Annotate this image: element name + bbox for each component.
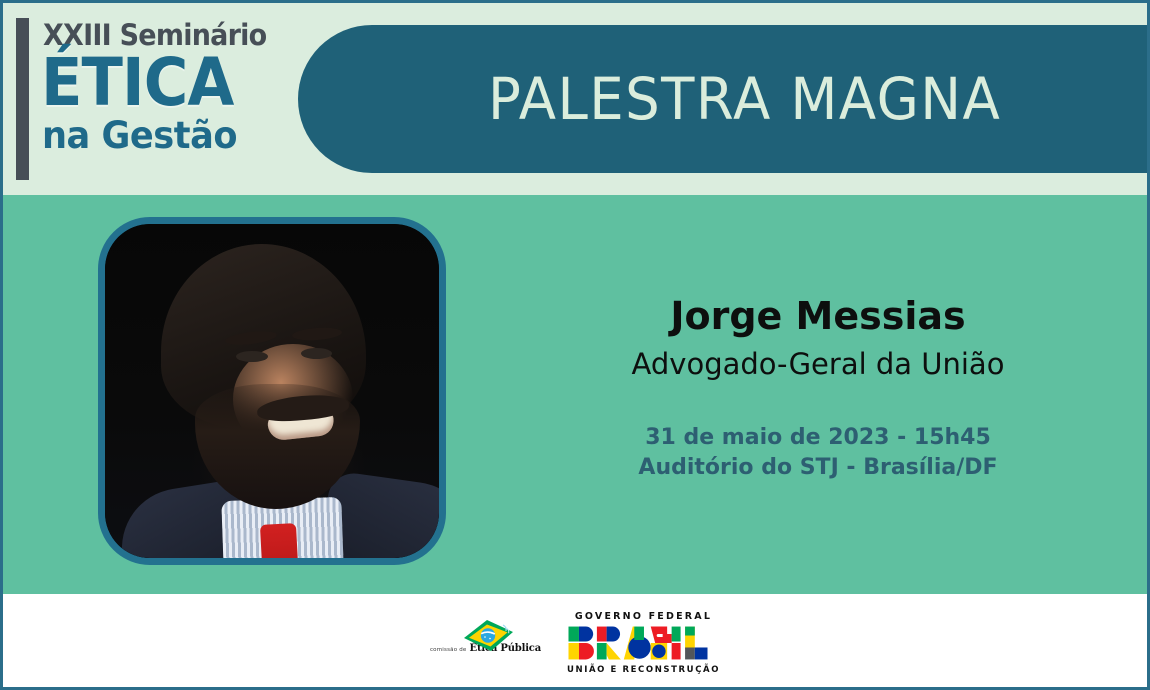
governo-federal-logo: GOVERNO FEDERAL [567, 611, 720, 675]
event-poster: XXIII Seminário ÉTICA na Gestão PALESTRA… [0, 0, 1150, 690]
speaker-role: Advogado-Geral da União [533, 347, 1103, 382]
logo-accent-bar [16, 18, 29, 180]
seminar-logo: XXIII Seminário ÉTICA na Gestão [41, 15, 281, 185]
poster-main: Jorge Messias Advogado-Geral da União 31… [3, 195, 1147, 597]
palestra-magna-banner: PALESTRA MAGNA [298, 25, 1150, 173]
brazil-flag-map-icon [460, 619, 516, 653]
brasil-wordmark-icon [567, 625, 709, 661]
gov-top-label: GOVERNO FEDERAL [567, 611, 720, 622]
gov-bottom-label: UNIÃO E RECONSTRUÇÃO [567, 665, 720, 675]
portrait-eye-right [301, 348, 332, 359]
event-date-time: 31 de maio de 2023 - 15h45 [533, 423, 1103, 453]
poster-header: XXIII Seminário ÉTICA na Gestão PALESTRA… [3, 3, 1147, 195]
speaker-photo [105, 224, 439, 558]
portrait-eye-left [236, 351, 268, 362]
seminar-title-na-gestao: na Gestão [42, 117, 269, 154]
poster-footer: comissão de Ética Pública GOVERNO FEDERA… [3, 594, 1147, 687]
seminar-title-etica: ÉTICA [41, 52, 262, 115]
event-venue: Auditório do STJ - Brasília/DF [533, 453, 1103, 483]
event-details: 31 de maio de 2023 - 15h45 Auditório do … [533, 423, 1103, 482]
speaker-name: Jorge Messias [533, 295, 1103, 339]
speaker-photo-frame [98, 217, 446, 565]
comissao-etica-publica-logo: comissão de Ética Pública [430, 643, 541, 655]
banner-title: PALESTRA MAGNA [488, 65, 1001, 133]
speaker-info: Jorge Messias Advogado-Geral da União 31… [533, 295, 1103, 483]
portrait-tie [260, 523, 300, 558]
